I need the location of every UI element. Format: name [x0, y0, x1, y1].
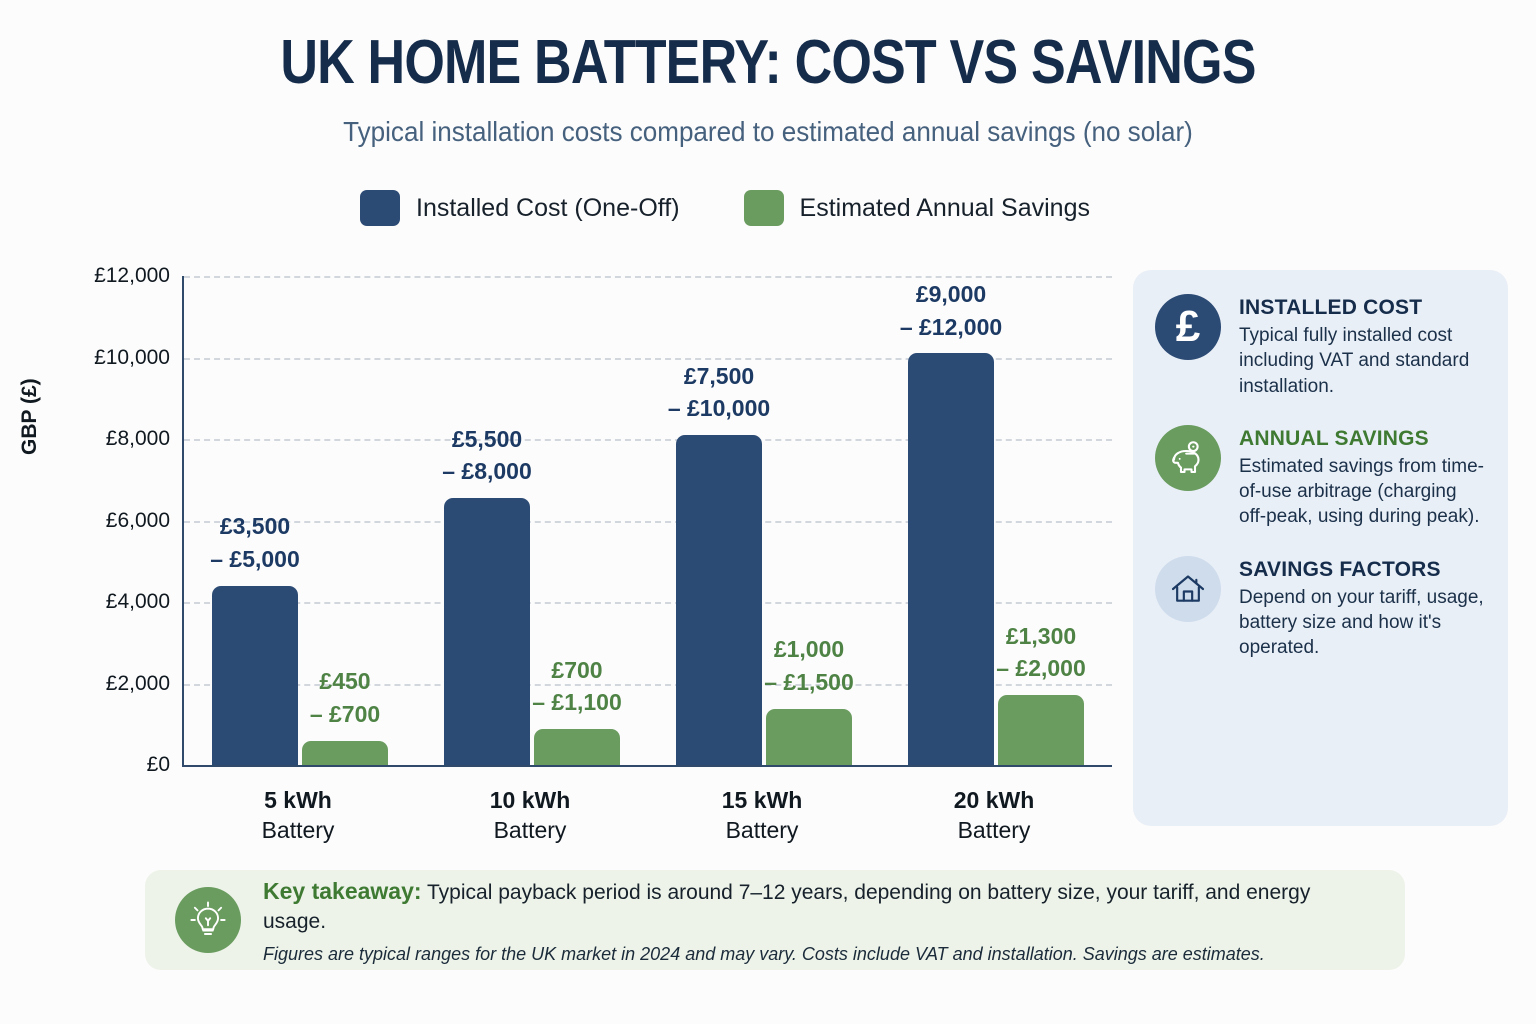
y-axis-tick-label: £10,000 [40, 346, 170, 370]
y-axis-tick-label: £2,000 [40, 672, 170, 696]
bars-container: £3,500– £5,000£450– £700£5,500– £8,000£7… [184, 276, 1112, 765]
bar-range-high: – £700 [310, 698, 380, 731]
bar-value-label: £9,000– £12,000 [900, 278, 1002, 343]
bar-annual-savings[interactable]: £700– £1,100 [534, 729, 620, 765]
pound-glyph: £ [1176, 305, 1200, 349]
info-body-annual-savings: Estimated savings from time-of-use arbit… [1239, 454, 1486, 530]
x-tick-unit: Battery [646, 816, 878, 846]
x-tick-unit: Battery [182, 816, 414, 846]
bar-range-high: – £5,000 [210, 543, 300, 576]
x-axis-tick-label: 15 kWhBattery [646, 786, 878, 846]
x-tick-unit: Battery [414, 816, 646, 846]
bar-group: £5,500– £8,000£700– £1,100 [444, 276, 620, 765]
info-heading-installed-cost: INSTALLED COST [1239, 296, 1486, 320]
x-tick-size: 15 kWh [646, 786, 878, 816]
bar-value-label: £700– £1,100 [532, 654, 622, 719]
bar-group: £9,000– £12,000£1,300– £2,000 [908, 276, 1084, 765]
bar-installed-cost[interactable]: £9,000– £12,000 [908, 353, 994, 765]
x-axis-tick-label: 5 kWhBattery [182, 786, 414, 846]
info-heading-annual-savings: ANNUAL SAVINGS [1239, 427, 1486, 451]
takeaway-footnote: Figures are typical ranges for the UK ma… [263, 944, 1375, 965]
bar-range-low: £9,000 [900, 278, 1002, 311]
x-tick-unit: Battery [878, 816, 1110, 846]
bar-range-low: £700 [532, 654, 622, 687]
y-axis-tick-label: £4,000 [40, 590, 170, 614]
takeaway-kicker: Key takeaway: [263, 878, 422, 904]
bar-installed-cost[interactable]: £7,500– £10,000 [676, 435, 762, 765]
bar-range-low: £450 [310, 665, 380, 698]
x-axis-tick-label: 20 kWhBattery [878, 786, 1110, 846]
info-body-installed-cost: Typical fully installed cost including V… [1239, 323, 1486, 399]
bar-range-low: £5,500 [442, 423, 532, 456]
bar-value-label: £5,500– £8,000 [442, 423, 532, 488]
bar-installed-cost[interactable]: £3,500– £5,000 [212, 586, 298, 765]
bar-range-low: £1,000 [764, 633, 854, 666]
bar-range-high: – £1,100 [532, 686, 622, 719]
bar-value-label: £1,000– £1,500 [764, 633, 854, 698]
bar-chart: GBP (£) £0£2,000£4,000£6,000£8,000£10,00… [0, 0, 1120, 850]
house-icon [1155, 556, 1221, 622]
bar-range-high: – £8,000 [442, 455, 532, 488]
info-side-panel: £ INSTALLED COST Typical fully installed… [1133, 270, 1508, 826]
bar-range-low: £3,500 [210, 510, 300, 543]
bar-range-high: – £2,000 [996, 652, 1086, 685]
bar-value-label: £7,500– £10,000 [668, 360, 770, 425]
bar-installed-cost[interactable]: £5,500– £8,000 [444, 498, 530, 765]
bar-group: £7,500– £10,000£1,000– £1,500 [676, 276, 852, 765]
bar-range-high: – £1,500 [764, 666, 854, 699]
takeaway-main-line: Key takeaway: Typical payback period is … [263, 875, 1375, 937]
info-item-annual-savings: ANNUAL SAVINGS Estimated savings from ti… [1155, 425, 1486, 530]
y-axis-tick-label: £0 [40, 753, 170, 777]
y-axis-ticks: £0£2,000£4,000£6,000£8,000£10,000£12,000 [32, 0, 170, 850]
bar-range-high: – £12,000 [900, 311, 1002, 344]
x-tick-size: 5 kWh [182, 786, 414, 816]
piggy-bank-icon [1155, 425, 1221, 491]
x-tick-size: 10 kWh [414, 786, 646, 816]
key-takeaway-banner: Key takeaway: Typical payback period is … [145, 870, 1405, 970]
bar-value-label: £3,500– £5,000 [210, 510, 300, 575]
y-axis-tick-label: £8,000 [40, 427, 170, 451]
x-axis-tick-label: 10 kWhBattery [414, 786, 646, 846]
bar-range-high: – £10,000 [668, 392, 770, 425]
lightbulb-icon [175, 887, 241, 953]
x-tick-size: 20 kWh [878, 786, 1110, 816]
info-heading-savings-factors: SAVINGS FACTORS [1239, 558, 1486, 582]
y-axis-tick-label: £6,000 [40, 509, 170, 533]
pound-sign-icon: £ [1155, 294, 1221, 360]
info-item-savings-factors: SAVINGS FACTORS Depend on your tariff, u… [1155, 556, 1486, 661]
bar-group: £3,500– £5,000£450– £700 [212, 276, 388, 765]
bar-value-label: £1,300– £2,000 [996, 620, 1086, 685]
bar-range-low: £1,300 [996, 620, 1086, 653]
plot-area: £3,500– £5,000£450– £700£5,500– £8,000£7… [182, 276, 1112, 767]
bar-range-low: £7,500 [668, 360, 770, 393]
bar-annual-savings[interactable]: £1,000– £1,500 [766, 709, 852, 765]
y-axis-tick-label: £12,000 [40, 264, 170, 288]
info-body-savings-factors: Depend on your tariff, usage, battery si… [1239, 585, 1486, 661]
bar-value-label: £450– £700 [310, 665, 380, 730]
bar-annual-savings[interactable]: £450– £700 [302, 741, 388, 765]
bar-annual-savings[interactable]: £1,300– £2,000 [998, 695, 1084, 765]
info-item-installed-cost: £ INSTALLED COST Typical fully installed… [1155, 294, 1486, 399]
